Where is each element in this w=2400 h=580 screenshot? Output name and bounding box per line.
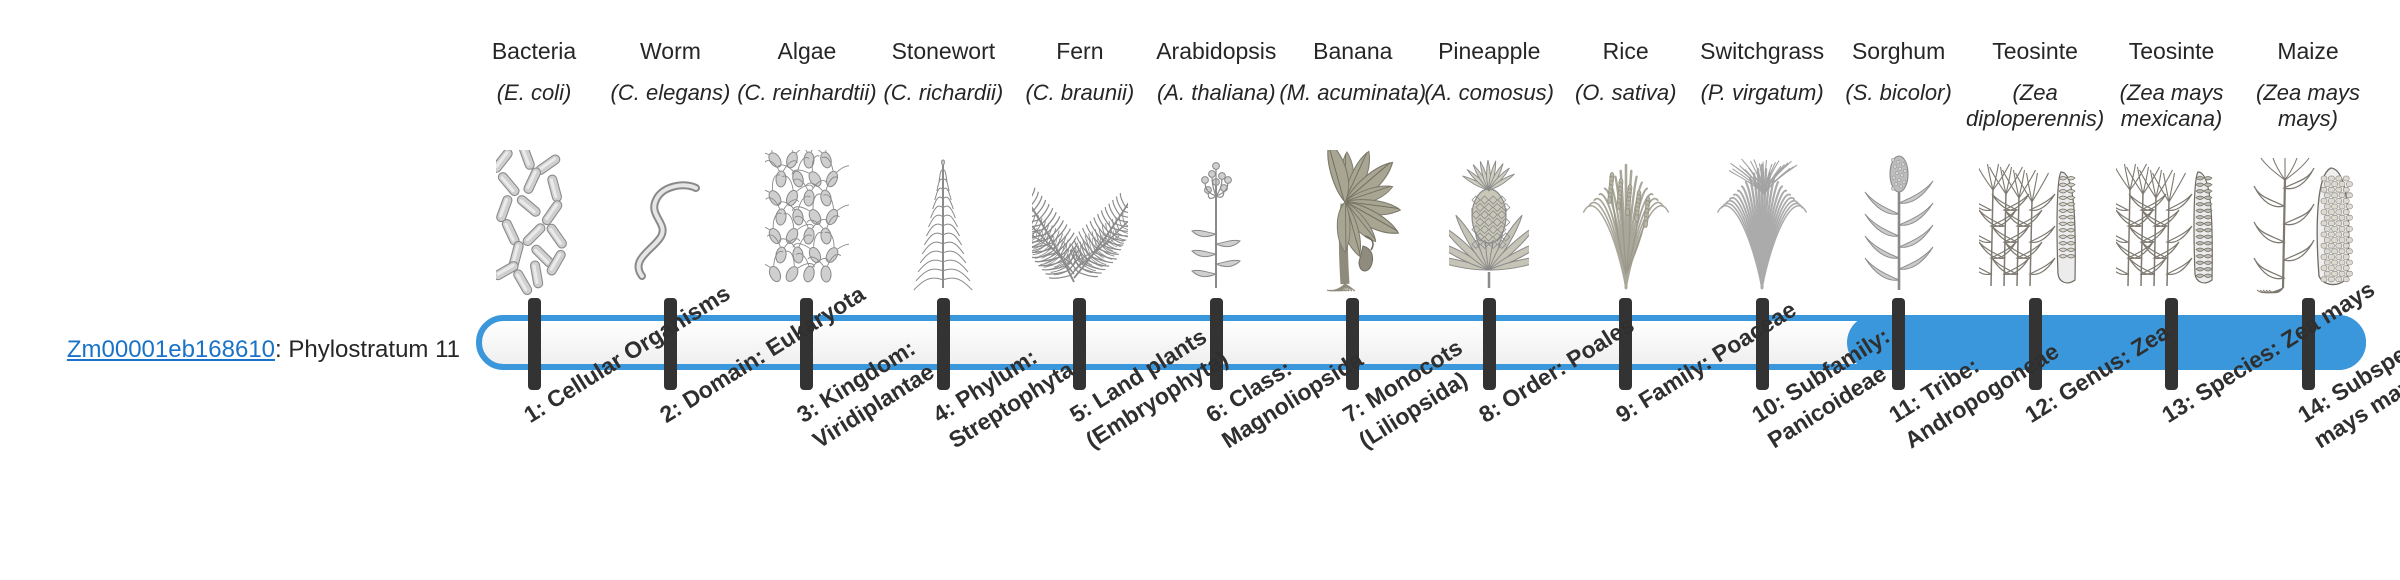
species-latin-name: (C. braunii): [1002, 80, 1158, 106]
phylostratum-number: 14:: [2293, 388, 2335, 428]
phylostratum-taxon: Streptophyta: [944, 356, 1078, 453]
timeline-track-area: Bacteria(E. coli): [476, 0, 2366, 580]
species-latin-name: (E. coli): [456, 80, 612, 106]
species-common-name: Switchgrass: [1684, 36, 1840, 66]
phylostratum-tick-5[interactable]: [1073, 298, 1086, 390]
species-common-name: Rice: [1548, 36, 1704, 66]
stonewort-icon: [905, 156, 981, 286]
sorghum-icon: [1857, 154, 1941, 284]
species-common-name: Arabidopsis: [1138, 36, 1294, 66]
species-column-pineapple: Pineapple(A. comosus): [1411, 36, 1567, 106]
species-latin-name: (A. thaliana): [1138, 80, 1294, 106]
species-column-arabidopsis: Arabidopsis(A. thaliana): [1138, 36, 1294, 106]
species-common-name: Bacteria: [456, 36, 612, 66]
phylostratum-tick-4[interactable]: [937, 298, 950, 390]
phylostratum-tick-14[interactable]: [2302, 298, 2315, 390]
species-common-name: Algae: [729, 36, 885, 66]
gene-phylostratum-label: Zm00001eb168610: Phylostratum 11: [40, 336, 460, 364]
phylostratum-number: 10:: [1747, 388, 1789, 428]
species-latin-name: (A. comosus): [1411, 80, 1567, 106]
species-column-bacteria: Bacteria(E. coli): [456, 36, 612, 106]
gene-id-link[interactable]: Zm00001eb168610: [67, 336, 275, 363]
species-column-teosinte: Teosinte(Zea diploperennis): [1957, 36, 2113, 132]
species-latin-name: (M. acuminata): [1275, 80, 1431, 106]
species-common-name: Stonewort: [865, 36, 1021, 66]
phylostratum-number: 3:: [792, 395, 823, 428]
rice-icon: [1580, 154, 1672, 284]
gene-phylostratum-text: Phylostratum 11: [288, 336, 460, 363]
pineapple-icon: [1449, 152, 1529, 282]
phylostratum-number: 13:: [2157, 388, 2199, 428]
fern-icon: [1032, 156, 1128, 286]
worm-icon: [626, 166, 714, 296]
species-common-name: Maize: [2230, 36, 2386, 66]
algae-icon: [765, 150, 849, 280]
phylostratum-number: 2:: [656, 395, 687, 428]
species-common-name: Teosinte: [1957, 36, 2113, 66]
arabidopsis-icon: [1178, 156, 1254, 286]
species-common-name: Banana: [1275, 36, 1431, 66]
species-column-worm: Worm(C. elegans): [592, 36, 748, 106]
species-column-teosinte: Teosinte(Zea mays mexicana): [2094, 36, 2250, 132]
phylostratum-number: 12:: [2020, 388, 2062, 428]
phylostratum-tick-7[interactable]: [1346, 298, 1359, 390]
bacteria-icon: [496, 150, 572, 280]
phylostratum-number: 9:: [1611, 395, 1642, 428]
species-common-name: Fern: [1002, 36, 1158, 66]
phylostratum-tick-1[interactable]: [528, 298, 541, 390]
phylostratum-taxon: Viridiplantae: [808, 358, 938, 453]
phylostratum-tick-3[interactable]: [800, 298, 813, 390]
switchgrass-icon: [1714, 154, 1810, 284]
progress-bar-fill: [1847, 315, 2366, 370]
phylostratum-number: 8:: [1474, 395, 1505, 428]
phylostratum-tick-8[interactable]: [1483, 298, 1496, 390]
species-column-rice: Rice(O. sativa): [1548, 36, 1704, 106]
species-latin-name: (Zea diploperennis): [1957, 80, 2113, 132]
banana-icon: [1299, 150, 1407, 280]
phylostratum-tick-12[interactable]: [2029, 298, 2042, 390]
species-latin-name: (O. sativa): [1548, 80, 1704, 106]
species-common-name: Worm: [592, 36, 748, 66]
phylostratum-number: 11:: [1884, 389, 1925, 428]
species-column-banana: Banana(M. acuminata): [1275, 36, 1431, 106]
phylostratum-tick-9[interactable]: [1619, 298, 1632, 390]
species-latin-name: (S. bicolor): [1821, 80, 1977, 106]
phylostratum-taxon: Panicoideae: [1763, 360, 1891, 453]
species-common-name: Teosinte: [2094, 36, 2250, 66]
phylostratum-number: 1:: [519, 395, 550, 428]
phylostratum-number: 6:: [1201, 395, 1232, 428]
teosinte-icon: [1979, 154, 2091, 284]
species-column-switchgrass: Switchgrass(P. virgatum): [1684, 36, 1840, 106]
phylostratum-tick-13[interactable]: [2165, 298, 2178, 390]
phylostratum-tick-10[interactable]: [1756, 298, 1769, 390]
phylostratum-number: 4:: [928, 395, 959, 428]
species-latin-name: (Zea mays mexicana): [2094, 80, 2250, 132]
phylostratum-number: 5:: [1065, 395, 1096, 428]
species-column-algae: Algae(C. reinhardtii): [729, 36, 885, 106]
species-latin-name: (Zea mays mays): [2230, 80, 2386, 132]
gene-label-separator: :: [275, 336, 288, 363]
species-latin-name: (C. reinhardtii): [729, 80, 885, 106]
species-latin-name: (C. richardii): [865, 80, 1021, 106]
species-column-stonewort: Stonewort(C. richardii): [865, 36, 1021, 106]
phylostratum-tick-6[interactable]: [1210, 298, 1223, 390]
phylostratum-taxon: Zea mays mays: [2309, 288, 2400, 453]
species-common-name: Sorghum: [1821, 36, 1977, 66]
species-column-maize: Maize(Zea mays mays): [2230, 36, 2386, 132]
phylostratigraphy-figure: Zm00001eb168610: Phylostratum 11 Bacteri…: [0, 0, 2400, 580]
phylostratum-number: 7:: [1338, 395, 1369, 428]
phylostratum-taxon: (Liliopsida): [1354, 366, 1472, 453]
teosinte-icon: [2116, 154, 2228, 284]
species-latin-name: (P. virgatum): [1684, 80, 1840, 106]
species-column-fern: Fern(C. braunii): [1002, 36, 1158, 106]
species-column-sorghum: Sorghum(S. bicolor): [1821, 36, 1977, 106]
maize-icon: [2253, 154, 2363, 284]
phylostratum-tick-2[interactable]: [664, 298, 677, 390]
species-common-name: Pineapple: [1411, 36, 1567, 66]
phylostratum-tick-11[interactable]: [1892, 298, 1905, 390]
phylostratum-progress-bar[interactable]: [476, 315, 2366, 370]
species-latin-name: (C. elegans): [592, 80, 748, 106]
